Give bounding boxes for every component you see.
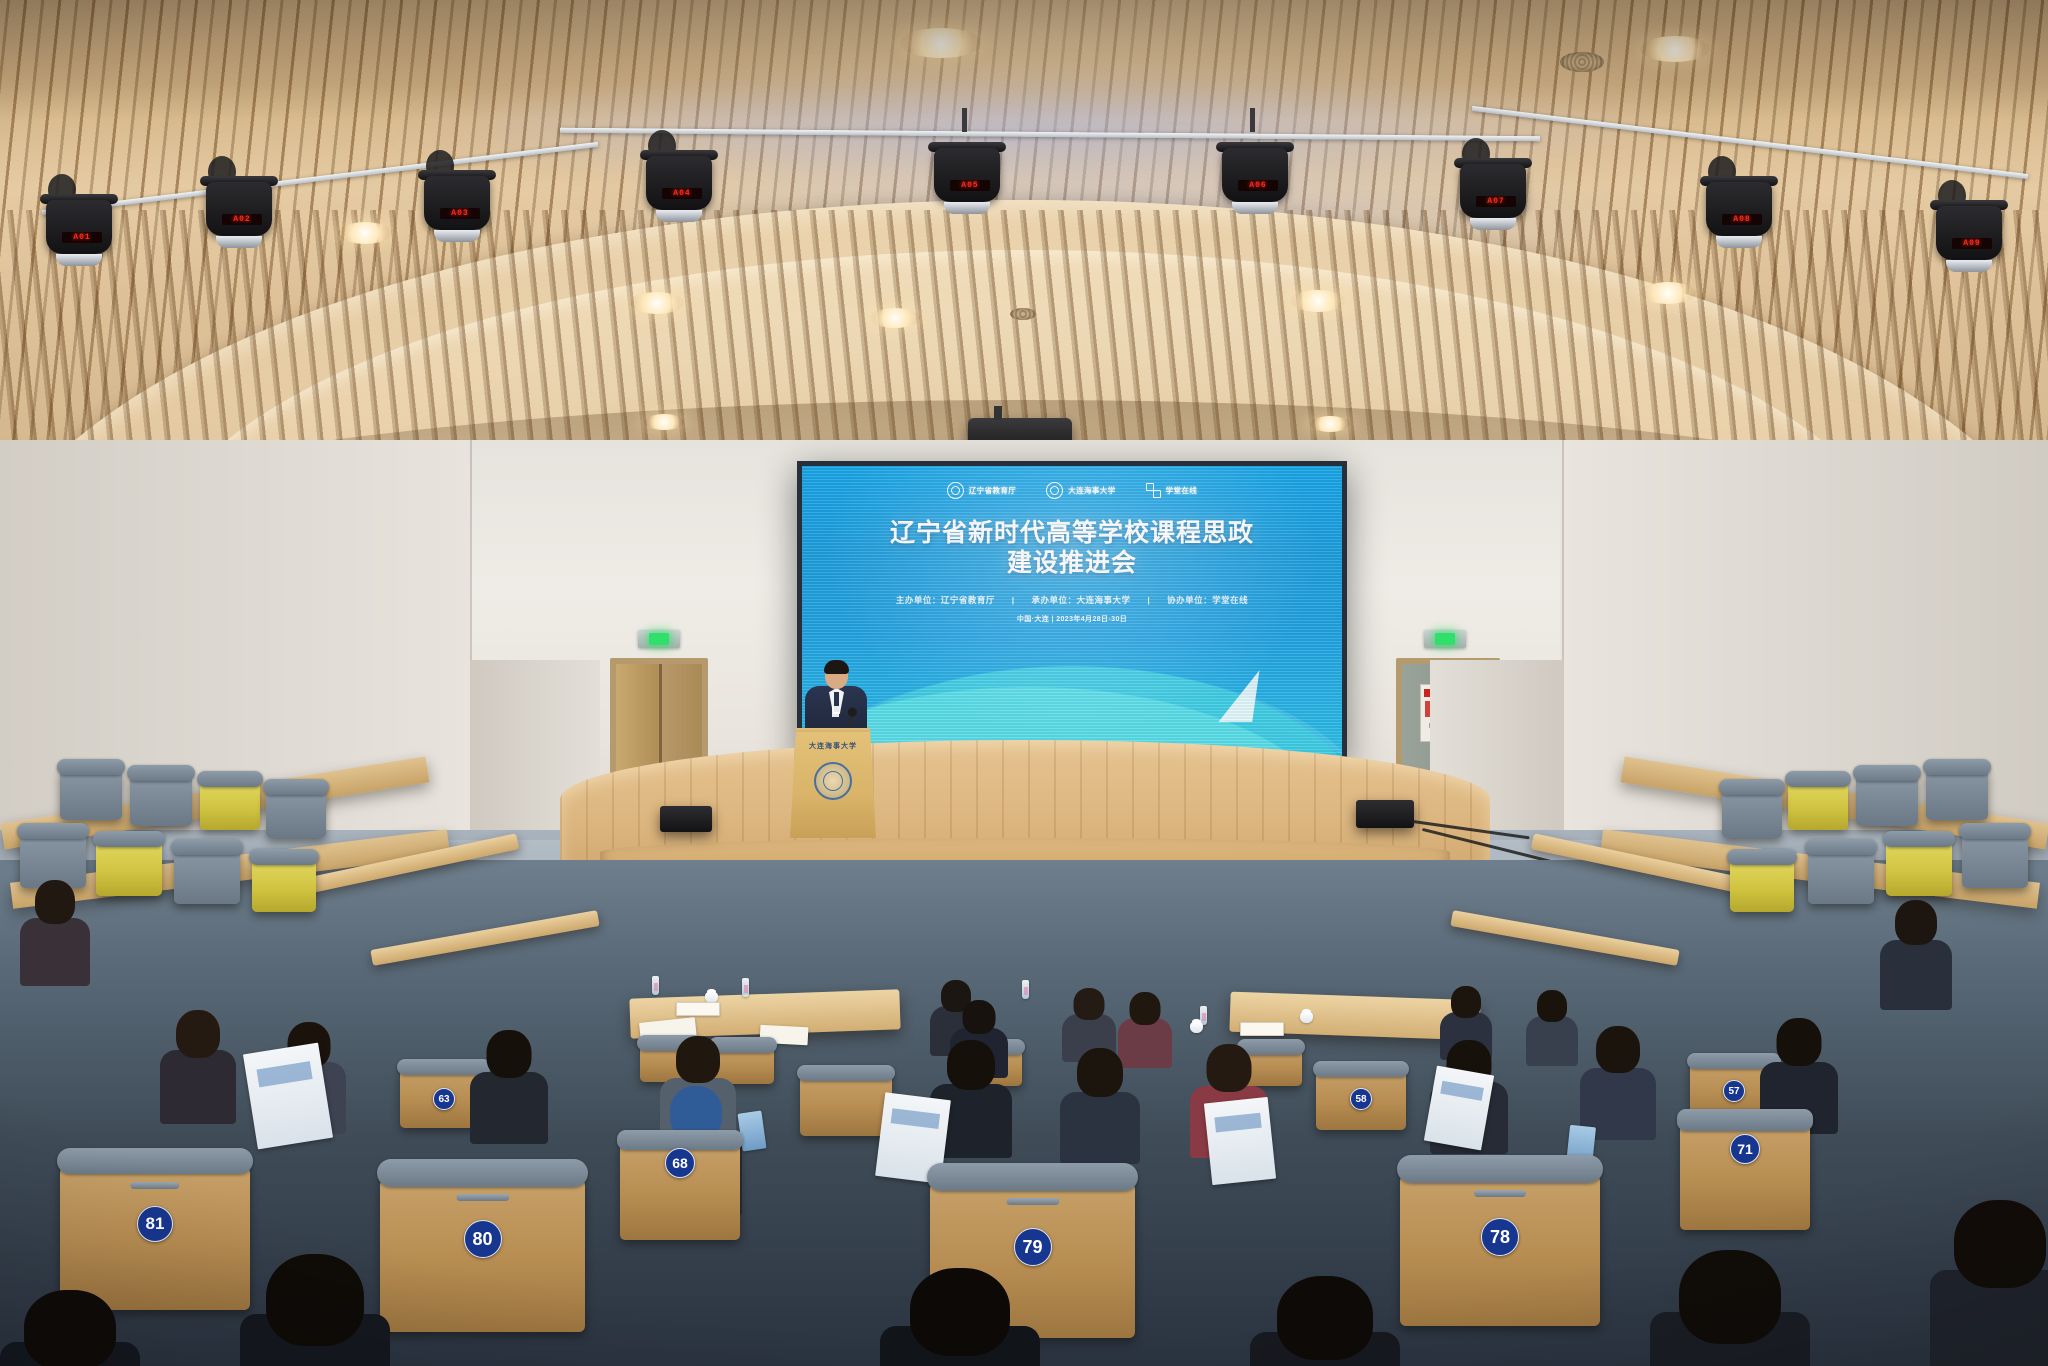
seat-number-badge: 71 (1730, 1134, 1760, 1164)
led-screen: 辽宁省教育厅 大连海事大学 学堂在线 辽宁省新时代高等学校课程思政 建设推进会 … (802, 466, 1342, 756)
attendee-head (1596, 1026, 1640, 1073)
attendee-head (676, 1036, 720, 1083)
attendee-head (1077, 1048, 1123, 1097)
seat-left-2[interactable] (130, 772, 192, 826)
seat-cushion (797, 1065, 895, 1081)
attendee-head (947, 1040, 995, 1090)
stage-light-display: A09 (1952, 238, 1992, 249)
seat-right-5[interactable] (1962, 830, 2028, 888)
downlight-8 (644, 414, 684, 430)
water-bottle-2 (742, 978, 749, 997)
tea-cup-3 (1300, 1012, 1313, 1023)
seat-cushion (57, 1148, 253, 1174)
attendee-head (1537, 990, 1567, 1022)
ceiling-vent-1 (1560, 52, 1604, 72)
seat-left-3[interactable] (200, 778, 260, 830)
attendee-head (1074, 988, 1105, 1020)
stage-light-9: A09 (1930, 182, 2008, 268)
attendee-head (176, 1010, 220, 1058)
seat-cushion (1785, 771, 1851, 787)
seat-cushion (197, 771, 263, 787)
seat-hinge (130, 1182, 179, 1189)
seat-cushion (1677, 1109, 1813, 1131)
stage-light-lens (434, 230, 480, 242)
downlight-5 (870, 308, 920, 328)
seat-cushion (1923, 759, 1991, 775)
seat-cushion (17, 823, 89, 839)
stage-light-lens (1232, 202, 1278, 214)
stage-light-body: A07 (1460, 164, 1526, 218)
seat-cushion (1313, 1061, 1409, 1077)
attendee-b1 (160, 1010, 236, 1120)
water-bottle-1 (652, 976, 659, 995)
attendee-body (20, 918, 90, 986)
foreground-attendee-6 (1930, 1200, 2048, 1366)
stage-light-lens (216, 236, 262, 248)
podium-institution-label: 大连海事大学 (790, 741, 876, 751)
ceiling: A01 A02 A03 A04 (0, 0, 2048, 470)
foreground-attendee-1 (240, 1254, 390, 1366)
auditorium-photo: A01 A02 A03 A04 (0, 0, 2048, 1366)
stage-light-6: A06 (1216, 124, 1294, 210)
attendee-body (160, 1050, 236, 1124)
stage-light-lens (656, 210, 702, 222)
seat-right-1[interactable] (1926, 766, 1988, 820)
seat-cushion (1397, 1155, 1603, 1183)
name-card-1 (676, 1002, 720, 1016)
attendee-head (487, 1030, 532, 1078)
seat-number-badge: 58 (1350, 1088, 1372, 1110)
stage-light-5: A05 (928, 124, 1006, 210)
seat-cushion (617, 1130, 743, 1150)
seat-cushion (1853, 765, 1921, 781)
seat-cushion (263, 779, 329, 795)
stage-light-display: A03 (440, 208, 480, 219)
seat-left-8[interactable] (252, 856, 316, 912)
seat-cushion (57, 759, 125, 775)
floor-monitor-right (1356, 800, 1414, 828)
seat-left-6[interactable] (96, 838, 162, 896)
stage-light-stem (962, 108, 967, 132)
stage-light-display: A01 (62, 232, 102, 243)
ceiling-vent-2 (1010, 308, 1036, 320)
stage-light-body: A04 (646, 156, 712, 210)
attendee-head (1954, 1200, 2046, 1288)
seat-cushion (377, 1159, 588, 1187)
seat-number-badge: 81 (137, 1206, 173, 1242)
attendee-body (1060, 1092, 1140, 1164)
stage-light-1: A01 (40, 176, 118, 262)
water-bottle-3 (1022, 980, 1029, 999)
downlight-7 (338, 222, 392, 244)
program-booklet-3 (1204, 1097, 1276, 1185)
attendee-a6 (1526, 990, 1578, 1064)
stage-light-stem (1250, 108, 1255, 132)
attendee-head (1207, 1044, 1252, 1092)
stage-light-display: A04 (662, 188, 702, 199)
seat-cushion (127, 765, 195, 781)
stage-light-lens (56, 254, 102, 266)
stage-light-lens (1946, 260, 1992, 272)
seat-71[interactable]: 71 (1680, 1120, 1810, 1230)
seat-80[interactable]: 80 (380, 1172, 585, 1332)
speaker-hair (824, 660, 849, 674)
attendee-head (24, 1290, 116, 1366)
seat-number-badge: 80 (464, 1220, 502, 1258)
stage-light-display: A05 (950, 180, 990, 191)
attendee-head (1130, 992, 1161, 1025)
stage-light-lens (944, 202, 990, 214)
stage-light-7: A07 (1454, 140, 1532, 226)
stage-light-lens (1716, 236, 1762, 248)
stage-light-2: A02 (200, 158, 278, 244)
stage-light-display: A08 (1722, 214, 1762, 225)
seat-left-4[interactable] (266, 786, 326, 838)
seat-78[interactable]: 78 (1400, 1168, 1600, 1326)
exit-sign-left (638, 630, 680, 648)
exit-sign-right (1424, 630, 1466, 648)
seat-right-2[interactable] (1856, 772, 1918, 826)
stage-light-display: A02 (222, 214, 262, 225)
seat-number-badge: 78 (1481, 1218, 1519, 1256)
downlight-1 (900, 28, 982, 58)
attendee-b6 (1060, 1048, 1140, 1158)
attendee-head (1679, 1250, 1781, 1344)
seat-cushion (93, 831, 165, 847)
stage-light-body: A05 (934, 148, 1000, 202)
seat-row-b-3[interactable]: 58 (1316, 1068, 1406, 1130)
attendee-b3 (470, 1030, 548, 1138)
seat-hinge (1006, 1198, 1059, 1205)
stage-light-4: A04 (640, 132, 718, 218)
seat-right-6[interactable] (1886, 838, 1952, 896)
stage-light-body: A09 (1936, 206, 2002, 260)
stage-light-lens (1470, 218, 1516, 230)
stage-light-8: A08 (1700, 158, 1778, 244)
dmu-crest (814, 762, 852, 800)
seat-cushion (1719, 779, 1785, 795)
seat-number-badge: 63 (433, 1088, 455, 1110)
stage-light-body: A08 (1706, 182, 1772, 236)
running-man-exit-icon (1435, 633, 1455, 645)
stage-light-body: A03 (424, 176, 490, 230)
program-booklet-1 (243, 1043, 333, 1150)
foreground-attendee-3 (1250, 1276, 1400, 1366)
stage-light-3: A03 (418, 152, 496, 238)
seat-cushion (1959, 823, 2031, 839)
seat-hinge (456, 1194, 509, 1201)
seat-right-7[interactable] (1808, 846, 1874, 904)
attendee-head (1451, 986, 1481, 1018)
attendee-body (1526, 1016, 1578, 1066)
attendee-b12 (20, 880, 90, 980)
attendee-b11 (1880, 900, 1952, 1004)
seat-number-badge: 57 (1723, 1080, 1745, 1102)
speaker-badge (832, 706, 839, 717)
led-screen-frame: 辽宁省教育厅 大连海事大学 学堂在线 辽宁省新时代高等学校课程思政 建设推进会 … (797, 461, 1347, 761)
downlight-9 (1310, 416, 1350, 432)
seat-cushion (249, 849, 319, 865)
attendee-head (1777, 1018, 1822, 1066)
floor-monitor-left (660, 806, 712, 832)
seat-left-7[interactable] (174, 846, 240, 904)
seat-cushion (171, 839, 243, 855)
podium: 大连海事大学 (790, 728, 876, 838)
stage-light-display: A06 (1238, 180, 1278, 191)
speaker-person (805, 662, 867, 738)
seat-right-4[interactable] (1722, 786, 1782, 838)
seat-left-1[interactable] (60, 766, 122, 820)
seat-cushion (927, 1163, 1138, 1191)
downlight-2 (1640, 36, 1710, 62)
attendee-body (470, 1072, 548, 1144)
stage-light-body: A06 (1222, 148, 1288, 202)
seat-cushion (1727, 849, 1797, 865)
seat-81[interactable]: 81 (60, 1160, 250, 1310)
seat-right-8[interactable] (1730, 856, 1794, 912)
attendee-body (1880, 940, 1952, 1010)
seat-cushion (1883, 831, 1955, 847)
stage-light-body: A01 (46, 200, 112, 254)
screen-glow (802, 466, 1342, 756)
foreground-attendee-5 (0, 1290, 140, 1366)
seat-cushion (1805, 839, 1877, 855)
downlight-4 (1290, 290, 1346, 312)
stage-light-display: A07 (1476, 196, 1516, 207)
attendee-head (266, 1254, 364, 1346)
attendee-head (1277, 1276, 1373, 1360)
foreground-attendee-4 (1650, 1250, 1810, 1366)
attendee-b9 (1580, 1026, 1656, 1134)
seat-hinge (1474, 1190, 1526, 1197)
tea-cup-2 (1190, 1022, 1203, 1033)
seat-number-badge: 68 (665, 1148, 695, 1178)
seat-number-badge: 79 (1014, 1228, 1052, 1266)
stage-light-body: A02 (206, 182, 272, 236)
downlight-3 (1640, 282, 1696, 304)
name-card-2 (1240, 1022, 1284, 1036)
attendee-head (963, 1000, 996, 1034)
seat-68[interactable]: 68 (620, 1140, 740, 1240)
attendee-head (35, 880, 75, 924)
attendee-head (1895, 900, 1937, 945)
attendee-head (910, 1268, 1010, 1356)
foreground-attendee-2 (880, 1268, 1040, 1366)
running-man-exit-icon (649, 633, 669, 645)
downlight-6 (630, 292, 684, 314)
seat-right-3[interactable] (1788, 778, 1848, 830)
seat-row-b-2[interactable] (800, 1072, 892, 1136)
